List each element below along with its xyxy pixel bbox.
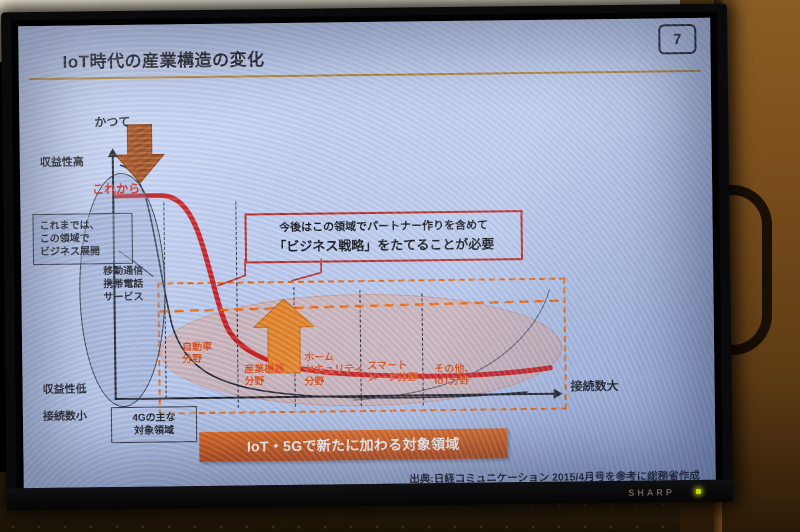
strategy-callout-line1: 今後はこの領域でパートナー作りを含めて: [255, 216, 513, 235]
television-display: IoT時代の産業構造の変化 7: [1, 4, 733, 511]
callout-leader: [217, 259, 245, 285]
segment-other-iot-line1: その他、: [434, 364, 474, 376]
segment-automotive-line2: 分野: [182, 354, 212, 366]
door-handle: [726, 185, 772, 355]
mobile-services-line3: サービス: [83, 290, 163, 304]
segment-industrial-line2: 分野: [244, 376, 284, 388]
mobile-services-line2: 携帯電話: [83, 277, 163, 291]
y-axis-low-label: 収益性低: [42, 380, 86, 397]
segment-home-security-line3: 分野: [304, 376, 364, 389]
segment-smart-meter-line1: スマート: [367, 360, 417, 373]
segment-home-security-line2: セキュリティ: [304, 364, 364, 377]
segment-smart-meter-line2: メータ分野: [367, 372, 417, 385]
curve-label-past: かつて: [94, 113, 130, 130]
segment-label-other-iot: その他、 IoT分野: [434, 364, 474, 388]
business-strategy-callout: 今後はこの領域でパートナー作りを含めて 「ビジネス戦略」をたてることが必要: [244, 210, 523, 263]
legacy-callout-line1: これまでは、: [40, 219, 126, 233]
segment-automotive-line1: 自動車: [182, 342, 212, 354]
x-axis-small-label: 接続数小: [43, 407, 87, 424]
banner-text: IoT・5Gで新たに加わる対象領域: [247, 434, 460, 457]
x-axis-large-label: 接続数大: [570, 377, 618, 395]
tv-screen: IoT時代の産業構造の変化 7: [18, 18, 716, 488]
legacy-business-callout: これまでは、 この領域で ビジネス展開: [32, 213, 133, 265]
mobile-services-label: 移動通信 携帯電話 サービス: [83, 264, 163, 304]
4g-callout-line1: 4Gの主な: [117, 411, 191, 425]
power-led-indicator: [696, 489, 701, 494]
segment-industrial-line1: 産業機器: [244, 364, 284, 376]
segment-label-industrial: 産業機器 分野: [244, 364, 284, 388]
brand-logo: SHARP: [628, 487, 675, 498]
screenshot-root: IoT時代の産業構造の変化 7: [0, 0, 800, 532]
4g-target-area-callout: 4Gの主な 対象領域: [111, 406, 197, 443]
segment-label-smart-meter: スマート メータ分野: [367, 360, 417, 385]
4g-callout-line2: 対象領域: [117, 424, 191, 438]
new-coverage-banner: IoT・5Gで新たに加わる対象領域: [199, 428, 507, 462]
segment-other-iot-line2: IoT分野: [434, 376, 474, 388]
y-axis-high-label: 収益性高: [40, 153, 84, 170]
strategy-callout-line2: 「ビジネス戦略」をたてることが必要: [255, 233, 513, 255]
legacy-callout-line2: この領域で: [40, 232, 126, 246]
segment-label-home-security: ホーム セキュリティ 分野: [304, 352, 364, 389]
mobile-services-line1: 移動通信: [83, 264, 163, 278]
segment-label-automotive: 自動車 分野: [182, 342, 212, 366]
curve-label-future: これから: [92, 180, 140, 198]
presentation-slide: IoT時代の産業構造の変化 7: [18, 18, 716, 488]
segment-home-security-line1: ホーム: [304, 352, 364, 365]
legacy-callout-line3: ビジネス展開: [40, 245, 126, 259]
